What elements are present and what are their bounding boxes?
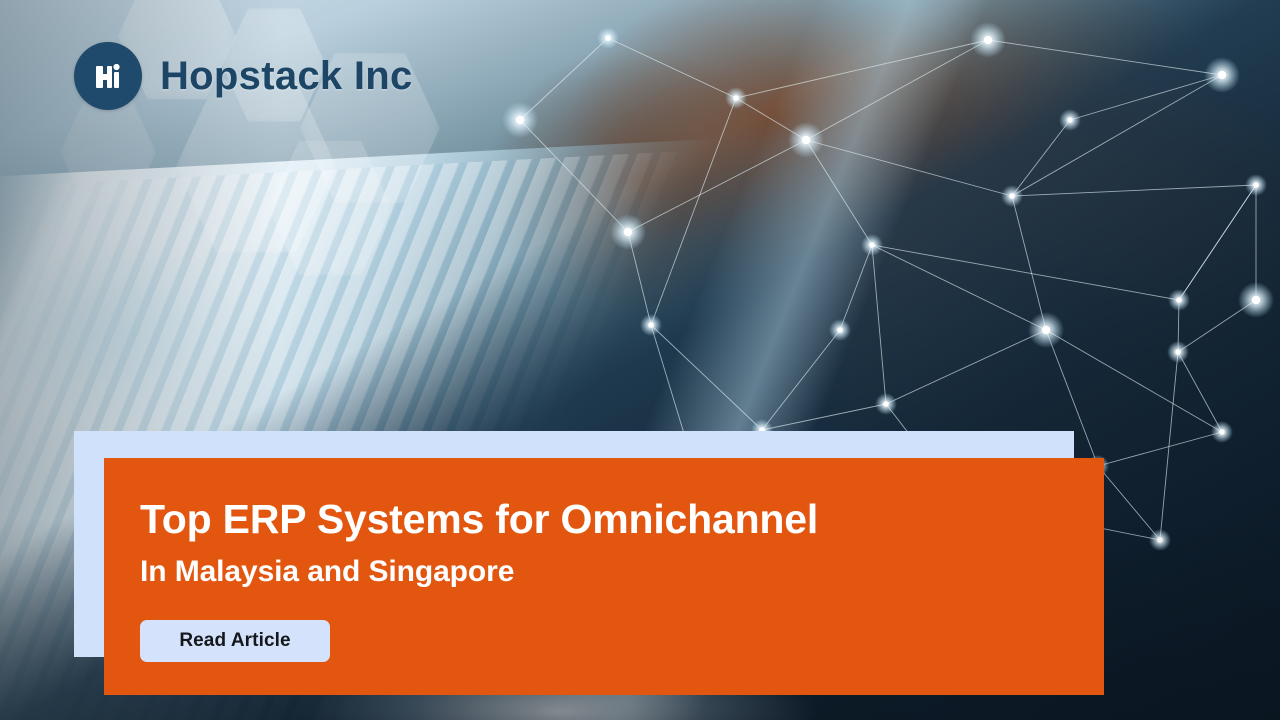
card-subtitle: In Malaysia and Singapore <box>140 555 1104 588</box>
promo-card: Top ERP Systems for Omnichannel In Malay… <box>104 458 1104 695</box>
hopstack-hi-monogram-icon <box>74 42 142 110</box>
banner-canvas: Hopstack Inc Top ERP Systems for Omnicha… <box>0 0 1280 720</box>
brand-name: Hopstack Inc <box>160 54 413 99</box>
card-title: Top ERP Systems for Omnichannel <box>140 498 1104 541</box>
read-article-button[interactable]: Read Article <box>140 620 330 662</box>
brand-logo[interactable]: Hopstack Inc <box>74 42 413 110</box>
